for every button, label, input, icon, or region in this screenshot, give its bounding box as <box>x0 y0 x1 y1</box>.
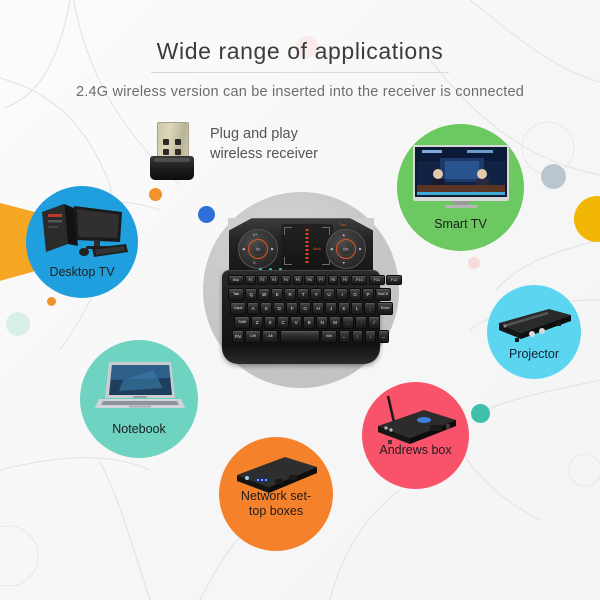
app-circle-desktop-tv[interactable]: Desktop TV <box>26 186 138 298</box>
keyboard-key[interactable]: B <box>303 316 315 329</box>
infographic-canvas: Wide range of applications 2.4G wireless… <box>0 0 600 600</box>
keyboard-key[interactable]: H <box>312 302 324 315</box>
keyboard-key[interactable]: J <box>325 302 337 315</box>
keyboard-key[interactable] <box>280 330 320 343</box>
keyboard-key[interactable]: T <box>297 288 309 301</box>
keyboard-key[interactable]: G <box>299 302 311 315</box>
keyboard-key[interactable]: M <box>329 316 341 329</box>
keyboard-key[interactable]: F6 <box>304 275 314 285</box>
keyboard-key[interactable]: Y <box>310 288 322 301</box>
app-label-network-set-top-boxes: Network set-top boxes <box>219 489 333 519</box>
keyboard-key[interactable]: S <box>260 302 272 315</box>
app-label-desktop-tv: Desktop TV <box>26 265 138 280</box>
dpad-left[interactable]: M V+ ◀ ▶ V- <box>238 229 278 269</box>
header-block: Wide range of applications <box>0 38 600 73</box>
keyboard-key[interactable]: F2 <box>257 275 267 285</box>
keyboard-key[interactable]: E <box>271 288 283 301</box>
keyboard-key[interactable]: V <box>290 316 302 329</box>
keyboard-top-panel: M V+ ◀ ▶ V- OK Turn Back Home <box>229 218 373 274</box>
dpad-right[interactable]: OK Turn Back Home ▲ ▼ ◀ ▶ <box>326 229 366 269</box>
page-title: Wide range of applications <box>151 38 450 73</box>
keyboard-key[interactable]: K <box>338 302 350 315</box>
app-circle-projector[interactable]: Projector <box>487 285 581 379</box>
keyboard-key[interactable]: F5 <box>293 275 303 285</box>
receiver-callout: Plug and play wireless receiver <box>150 122 365 184</box>
keyboard-key[interactable]: U <box>323 288 335 301</box>
keyboard-key[interactable]: P <box>362 288 374 301</box>
keyboard-key[interactable]: Esc <box>228 275 244 285</box>
keyboard-key[interactable]: Caps <box>230 302 246 315</box>
usb-dongle-icon <box>150 122 194 180</box>
app-label-projector: Projector <box>487 347 581 362</box>
laptop-icon <box>93 358 185 416</box>
keyboard-key[interactable]: I <box>336 288 348 301</box>
keyboard-key[interactable]: F3 <box>269 275 279 285</box>
keyboard-key[interactable]: ; <box>364 302 376 315</box>
keyboard-key[interactable]: F12 <box>386 275 402 285</box>
keyboard-key[interactable]: N <box>316 316 328 329</box>
page-subtitle: 2.4G wireless version can be inserted in… <box>0 84 600 100</box>
keyboard-key[interactable]: . <box>355 316 367 329</box>
keyboard-key[interactable]: win <box>321 330 337 343</box>
keyboard-key[interactable]: W <box>258 288 270 301</box>
keyboard-key[interactable]: C <box>277 316 289 329</box>
app-circle-network-set-top-boxes[interactable]: Network set-top boxes <box>219 437 333 551</box>
keyboard-key-area[interactable]: EscF1F2F3F4F5F6F7F8F9F10F11F12 TabQWERTY… <box>222 270 380 364</box>
teal-dot <box>471 404 490 423</box>
keyboard-key[interactable]: Shift <box>234 316 250 329</box>
keyboard-key[interactable]: F9 <box>340 275 350 285</box>
keyboard-key[interactable]: F4 <box>281 275 291 285</box>
keyboard-key[interactable]: F <box>286 302 298 315</box>
keyboard-key[interactable]: Ctrl <box>245 330 261 343</box>
keyboard-key[interactable]: ↓ <box>365 330 377 343</box>
keyboard-key[interactable]: R <box>284 288 296 301</box>
receiver-callout-text: Plug and play wireless receiver <box>210 124 318 164</box>
keyboard-key[interactable]: D <box>273 302 285 315</box>
keyboard-key[interactable]: FN <box>232 330 244 343</box>
gray-blue-dot <box>541 164 566 189</box>
keyboard-key[interactable]: Q <box>245 288 257 301</box>
keyboard-key[interactable]: L <box>351 302 363 315</box>
keyboard-key[interactable]: → <box>378 330 390 343</box>
app-circle-smart-tv[interactable]: Smart TV <box>397 124 524 251</box>
keyboard-key[interactable]: ← <box>339 330 351 343</box>
keyboard-key[interactable]: F10 <box>351 275 367 285</box>
keyboard-key[interactable]: Alt <box>262 330 278 343</box>
small-orange-dot <box>47 297 56 306</box>
keyboard-key[interactable]: F1 <box>245 275 255 285</box>
receiver-callout-line2: wireless receiver <box>210 144 318 164</box>
keyboard-key[interactable]: F8 <box>328 275 338 285</box>
orange-dot <box>149 188 162 201</box>
keyboard-key[interactable]: BACK <box>375 288 391 301</box>
blue-dot <box>198 206 215 223</box>
pale-teal-dot <box>6 312 30 336</box>
pale-pink-dot <box>468 257 480 269</box>
keyboard-key[interactable]: Enter <box>377 302 393 315</box>
app-label-notebook: Notebook <box>80 422 198 437</box>
app-label-andrews-box: Andrews box <box>362 443 469 458</box>
app-circle-notebook[interactable]: Notebook <box>80 340 198 458</box>
keyboard-key[interactable]: , <box>342 316 354 329</box>
keyboard-key[interactable]: F7 <box>316 275 326 285</box>
app-circle-andrews-box[interactable]: Andrews box <box>362 382 469 489</box>
yellow-dot <box>574 196 600 242</box>
flat-screen-tv-icon <box>412 144 510 210</box>
keyboard-key[interactable]: A <box>247 302 259 315</box>
keyboard-key[interactable]: / <box>368 316 380 329</box>
keyboard-key[interactable]: X <box>264 316 276 329</box>
mini-wireless-keyboard[interactable]: M V+ ◀ ▶ V- OK Turn Back Home <box>222 218 380 366</box>
keyboard-key[interactable]: Z <box>251 316 263 329</box>
projector-icon <box>495 303 575 345</box>
receiver-callout-line1: Plug and play <box>210 124 318 144</box>
keyboard-key[interactable]: Tab <box>228 288 244 301</box>
keyboard-key[interactable]: F11 <box>369 275 385 285</box>
desktop-computer-icon <box>34 200 130 262</box>
app-label-smart-tv: Smart TV <box>397 217 524 232</box>
keyboard-key[interactable]: O <box>349 288 361 301</box>
keyboard-key[interactable]: ↑ <box>352 330 364 343</box>
